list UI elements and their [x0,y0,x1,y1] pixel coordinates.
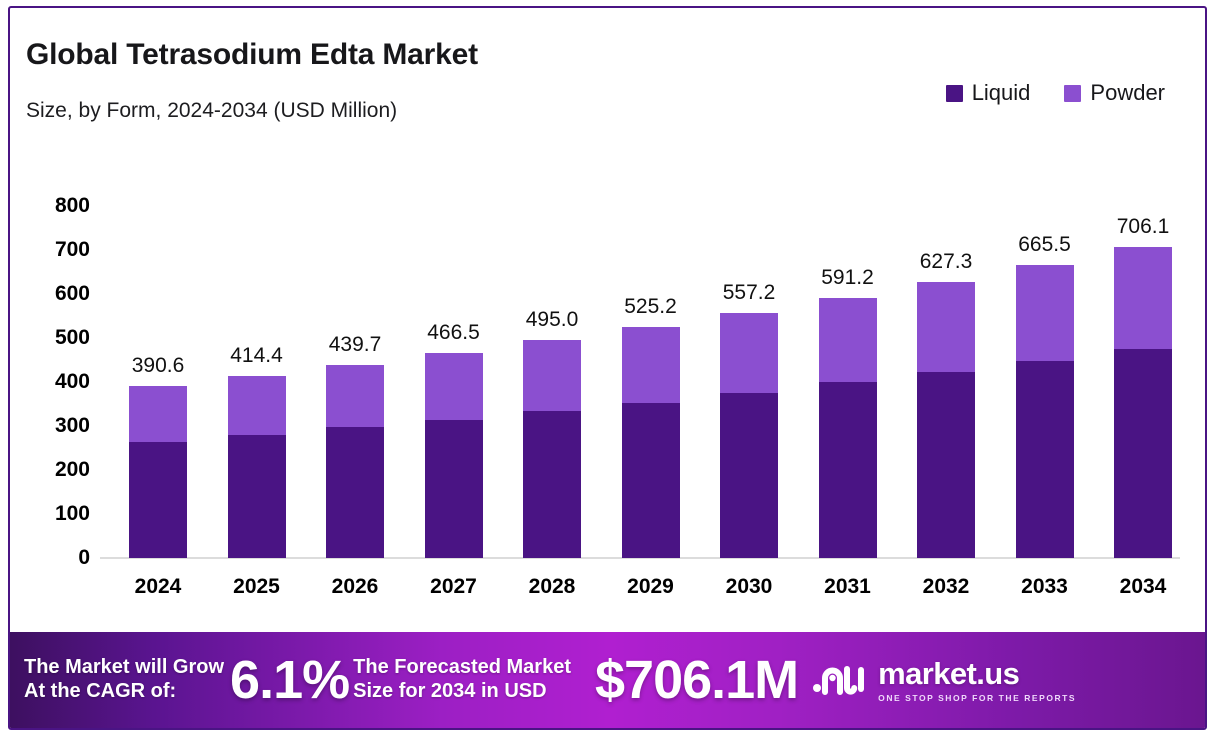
bar-group[interactable]: 665.5 [1016,265,1074,558]
bar-segment-liquid[interactable] [425,420,483,558]
bar-value-label: 591.2 [821,266,874,290]
bar-group[interactable]: 495.0 [523,340,581,558]
bar-value-label: 627.3 [920,250,973,274]
bar-group[interactable]: 627.3 [917,282,975,558]
bar-group[interactable]: 591.2 [819,298,877,558]
bar-value-label: 557.2 [723,281,776,305]
x-axis-tick: 2030 [726,575,773,599]
bar-group[interactable]: 414.4 [228,376,286,558]
bar-value-label: 390.6 [132,354,185,378]
bar-segment-powder[interactable] [523,340,581,411]
bar-group[interactable]: 466.5 [425,353,483,558]
forecast-caption: The Forecasted Market Size for 2034 in U… [353,656,571,703]
bar-value-label: 665.5 [1018,233,1071,257]
logo-wordmark: market.us [878,658,1076,689]
bar-value-label: 495.0 [526,308,579,332]
cagr-value: 6.1% [230,649,349,711]
x-axis-tick: 2029 [627,575,674,599]
bar-segment-liquid[interactable] [917,372,975,558]
bar-segment-powder[interactable] [1114,247,1172,348]
bar-value-label: 706.1 [1117,215,1170,239]
bar-segment-liquid[interactable] [622,403,680,558]
x-axis-tick: 2027 [430,575,477,599]
bar-segment-powder[interactable] [326,365,384,428]
bar-segment-liquid[interactable] [1114,349,1172,558]
bar-segment-liquid[interactable] [523,411,581,558]
bar-segment-liquid[interactable] [326,427,384,558]
logo-tagline: ONE STOP SHOP FOR THE REPORTS [878,694,1076,703]
bar-segment-liquid[interactable] [1016,361,1074,558]
x-axis-tick: 2025 [233,575,280,599]
bar-segment-liquid[interactable] [720,393,778,558]
bar-value-label: 439.7 [329,333,382,357]
bar-segment-liquid[interactable] [228,435,286,558]
bar-segment-liquid[interactable] [819,382,877,558]
bar-segment-powder[interactable] [129,386,187,442]
forecast-value: $706.1M [595,649,798,711]
chart-card: Global Tetrasodium Edta Market Size, by … [8,6,1207,730]
bar-group[interactable]: 525.2 [622,327,680,558]
bar-group[interactable]: 557.2 [720,313,778,558]
cagr-caption: The Market will Grow At the CAGR of: [24,656,224,703]
bar-segment-powder[interactable] [425,353,483,420]
bar-series-container: 390.62024414.42025439.72026466.52027495.… [10,8,1207,628]
bar-segment-powder[interactable] [228,376,286,435]
x-axis-tick: 2034 [1120,575,1167,599]
footer-banner: The Market will Grow At the CAGR of: 6.1… [10,632,1207,728]
bar-group[interactable]: 390.6 [129,386,187,558]
bar-segment-powder[interactable] [819,298,877,383]
x-axis-tick: 2033 [1021,575,1068,599]
x-axis-tick: 2026 [332,575,379,599]
bar-segment-liquid[interactable] [129,442,187,558]
bar-segment-powder[interactable] [622,327,680,403]
bar-segment-powder[interactable] [1016,265,1074,361]
chart-plot-area: 8007006005004003002001000 390.62024414.4… [10,8,1207,628]
x-axis-tick: 2028 [529,575,576,599]
x-axis-tick: 2031 [824,575,871,599]
market-us-logo[interactable]: market.us ONE STOP SHOP FOR THE REPORTS [812,658,1076,703]
x-axis-tick: 2024 [135,575,182,599]
x-axis-tick: 2032 [923,575,970,599]
bar-value-label: 466.5 [427,321,480,345]
bar-segment-powder[interactable] [720,313,778,394]
market-us-logo-icon [812,658,868,703]
bar-value-label: 414.4 [230,344,283,368]
bar-segment-powder[interactable] [917,282,975,372]
bar-group[interactable]: 706.1 [1114,247,1172,558]
bar-group[interactable]: 439.7 [326,365,384,558]
bar-value-label: 525.2 [624,295,677,319]
